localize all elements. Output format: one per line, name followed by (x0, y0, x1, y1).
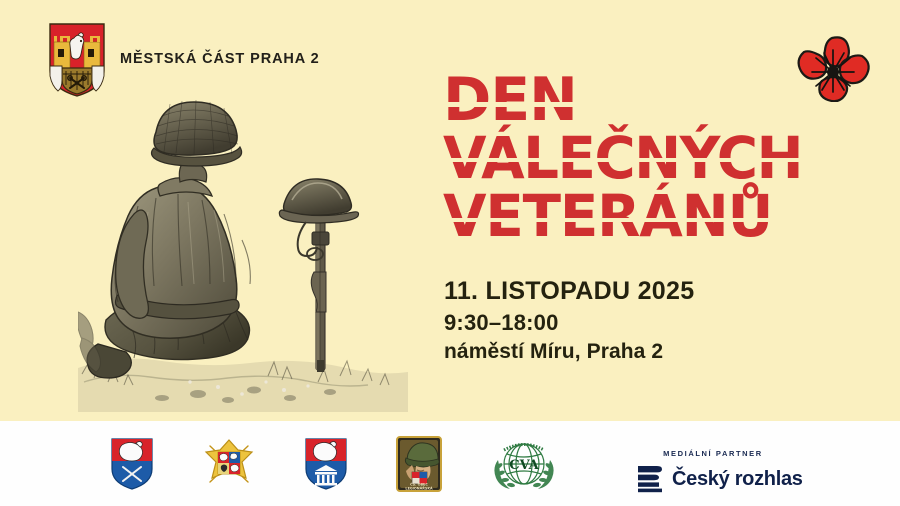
poster-title: DEN VÁLEČNÝCH VETERÁNŮ (443, 72, 863, 246)
title-line-3: VETERÁNŮ (443, 189, 850, 244)
cva-veterans-association-globe-icon: CVA (490, 438, 558, 490)
legionnaires-badge-line2: LEGIONÁŘSKÁ (405, 485, 433, 490)
prague-garrison-command-shield-icon (304, 437, 348, 491)
cesky-rozhlas-bars-icon (636, 464, 664, 494)
partner-logo-row: ČS. OBEC LEGIONÁŘSKÁ (110, 421, 558, 506)
cva-wordmark: CVA (509, 458, 539, 473)
media-partner-label: MEDIÁLNÍ PARTNER (638, 449, 788, 458)
army-of-the-czech-republic-shield-icon (110, 437, 154, 491)
partner-footer: ČS. OBEC LEGIONÁŘSKÁ (0, 421, 900, 506)
title-line-2: VÁLEČNÝCH (443, 131, 850, 186)
media-partner-block: MEDIÁLNÍ PARTNER Český rozhlas (636, 449, 803, 494)
event-date: 11. LISTOPADU 2025 (444, 277, 694, 306)
event-time: 9:30–18:00 (444, 310, 694, 336)
municipality-label: MĚSTSKÁ ČÁST PRAHA 2 (120, 51, 320, 69)
czechoslovak-legionnaires-community-badge-icon: ČS. OBEC LEGIONÁŘSKÁ (396, 436, 442, 492)
veterans-day-poster: MĚSTSKÁ ČÁST PRAHA 2 (0, 0, 900, 506)
general-staff-star-emblem-icon (202, 438, 256, 490)
title-line-1: DEN (443, 72, 850, 128)
kneeling-soldier-battlefield-cross-illustration (78, 82, 408, 412)
event-place: náměstí Míru, Praha 2 (444, 340, 694, 365)
poster-stage: MĚSTSKÁ ČÁST PRAHA 2 (0, 0, 900, 421)
event-details: 11. LISTOPADU 2025 9:30–18:00 náměstí Mí… (444, 277, 694, 364)
cesky-rozhlas-wordmark: Český rozhlas (672, 469, 803, 489)
cesky-rozhlas-logo: Český rozhlas (636, 464, 803, 494)
